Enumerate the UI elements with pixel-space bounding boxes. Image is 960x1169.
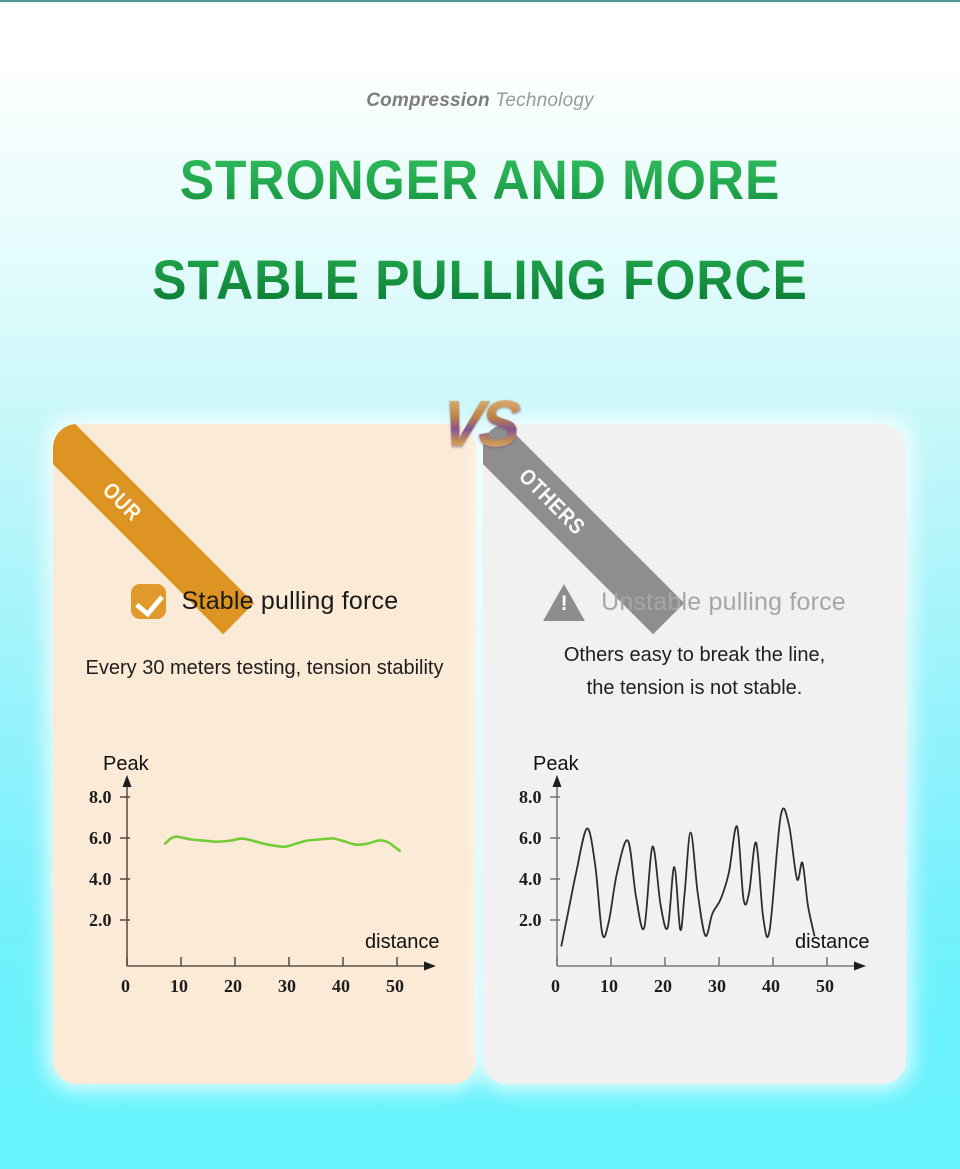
chart-our-xaxis-arrow [424,962,436,971]
chart-our-xtick-3: 30 [278,976,296,996]
chart-others-ytick-0: 2.0 [519,910,542,930]
chart-others-xtick-3: 30 [708,976,726,996]
chart-our-xticks [127,957,397,966]
chart-our-xtick-5: 50 [386,976,404,996]
chart-others-xlabel: distance [795,931,870,953]
chart-others-xtick-5: 50 [816,976,834,996]
eyebrow-bold: Compression [366,90,490,111]
chart-our-xtick-2: 20 [224,976,242,996]
comparison-card-our: OUR Stable pulling force Every 30 meters… [53,424,476,1084]
card-subtext-others-line2: the tension is not stable. [505,672,884,705]
chart-others-ytick-3: 8.0 [519,787,542,807]
chart-our-yticks [120,797,130,920]
chart-others-xtick-0: 0 [551,976,560,996]
chart-others-xtick-1: 10 [600,976,618,996]
card-subtext-others: Others easy to break the line, the tensi… [483,639,906,705]
card-head-others: Unstable pulling force [483,584,906,621]
check-icon [131,584,166,619]
card-subtext-our: Every 30 meters testing, tension stabili… [53,652,476,685]
chart-our-ytick-2: 6.0 [89,828,112,848]
chart-our-svg: Peak distance 2.0 4.0 6.0 8.0 [87,744,457,1004]
chart-others-ytick-2: 6.0 [519,828,542,848]
chart-our-xtick-4: 40 [332,976,350,996]
chart-others-svg: Peak distance 2.0 4.0 6.0 8.0 [517,744,887,1004]
chart-our-ytick-0: 2.0 [89,910,112,930]
top-divider [0,0,960,2]
comparison-card-others: OTHERS Unstable pulling force Others eas… [483,424,906,1084]
warning-icon [543,584,585,621]
chart-others-yticks [550,797,560,920]
card-head-label-our: Stable pulling force [182,587,399,616]
chart-others-xaxis-arrow [854,962,866,971]
chart-our-xtick-0: 0 [121,976,130,996]
chart-our-ytick-3: 8.0 [89,787,112,807]
chart-our-ytick-1: 4.0 [89,869,112,889]
chart-others: Peak distance 2.0 4.0 6.0 8.0 [517,744,887,1004]
chart-others-ytick-1: 4.0 [519,869,542,889]
headline-line-2: STABLE PULLING FORCE [38,252,921,308]
chart-our-series-line [165,837,400,851]
eyebrow-text: Compression Technology [0,90,960,112]
chart-our-xtick-1: 10 [170,976,188,996]
headline-line-1: STRONGER AND MORE [38,152,921,208]
card-subtext-others-line1: Others easy to break the line, [505,639,884,672]
chart-others-yaxis-arrow [553,775,562,787]
ribbon-label-others: OTHERS [513,463,590,540]
vs-label: VS [438,390,520,460]
vs-badge: VS [433,392,525,462]
chart-our-ylabel: Peak [103,753,150,775]
chart-others-ylabel: Peak [533,753,580,775]
card-head-our: Stable pulling force [53,584,476,619]
card-head-label-others: Unstable pulling force [601,588,846,617]
chart-others-xtick-4: 40 [762,976,780,996]
chart-our-xlabel: distance [365,931,440,953]
chart-others-xticks [557,957,827,966]
eyebrow-regular: Technology [495,90,593,111]
chart-our: Peak distance 2.0 4.0 6.0 8.0 [87,744,457,1004]
chart-others-series-line [561,808,814,945]
chart-others-xtick-2: 20 [654,976,672,996]
chart-our-yaxis-arrow [123,775,132,787]
ribbon-label-our: OUR [97,477,147,527]
